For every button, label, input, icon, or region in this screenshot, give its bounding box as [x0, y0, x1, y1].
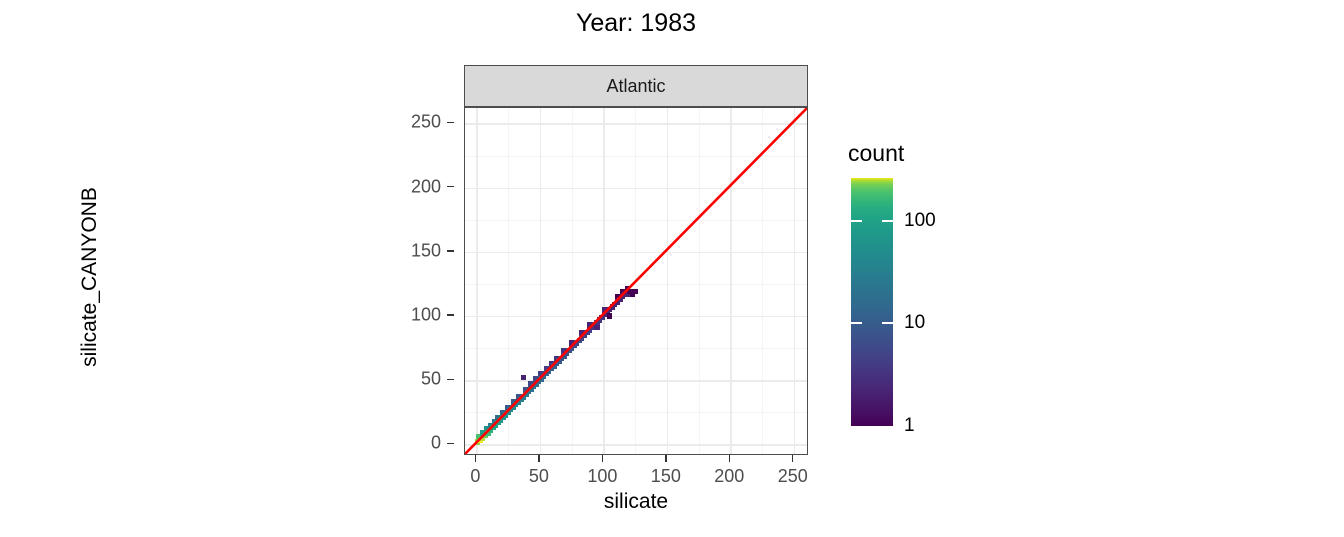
- identity-line: [465, 108, 807, 454]
- legend-tick-label: 100: [904, 210, 936, 232]
- x-tick-mark: [729, 455, 730, 462]
- x-tick-label: 250: [778, 466, 808, 487]
- x-tick-mark: [792, 455, 793, 462]
- facet-strip: Atlantic: [464, 65, 808, 107]
- facet-strip-label: Atlantic: [606, 76, 665, 97]
- y-axis-title: silicate_CANYONB: [78, 103, 102, 451]
- legend-tick-mark: [851, 322, 862, 324]
- plot-panel: [464, 107, 808, 455]
- y-axis-ticks: 050100150200250: [380, 107, 454, 455]
- y-tick-mark: [447, 250, 454, 251]
- legend-tick-label: 10: [904, 312, 925, 334]
- y-tick-label: 100: [411, 305, 441, 326]
- y-tick-label: 50: [421, 369, 441, 390]
- y-tick-mark: [447, 443, 454, 444]
- legend: count 100101: [848, 140, 1028, 440]
- legend-title: count: [848, 140, 904, 167]
- legend-tick-mark: [851, 220, 862, 222]
- legend-tick-mark: [882, 220, 893, 222]
- x-tick-mark: [665, 455, 666, 462]
- y-tick-mark: [447, 379, 454, 380]
- x-tick-label: 100: [587, 466, 617, 487]
- y-tick-mark: [447, 122, 454, 123]
- plot-root: Year: 1983 Atlantic 050100150200250 0501…: [0, 0, 1344, 537]
- x-axis-ticks: 050100150200250: [464, 455, 808, 495]
- y-tick-mark: [447, 314, 454, 315]
- legend-tick-mark: [882, 322, 893, 324]
- x-tick-label: 0: [470, 466, 480, 487]
- y-tick-label: 150: [411, 240, 441, 261]
- x-tick-mark: [602, 455, 603, 462]
- legend-tick-label: 1: [904, 415, 915, 437]
- x-tick-mark: [475, 455, 476, 462]
- legend-colorbar: [851, 178, 893, 426]
- plot-title: Year: 1983: [464, 10, 808, 38]
- y-tick-mark: [447, 186, 454, 187]
- x-tick-label: 200: [714, 466, 744, 487]
- y-tick-label: 250: [411, 112, 441, 133]
- panel-inner: [465, 108, 807, 454]
- y-tick-label: 200: [411, 176, 441, 197]
- x-tick-label: 150: [651, 466, 681, 487]
- x-axis-title: silicate: [464, 490, 808, 514]
- y-tick-label: 0: [431, 433, 441, 454]
- x-tick-label: 50: [529, 466, 549, 487]
- x-tick-mark: [538, 455, 539, 462]
- identity-line-layer: [465, 108, 807, 454]
